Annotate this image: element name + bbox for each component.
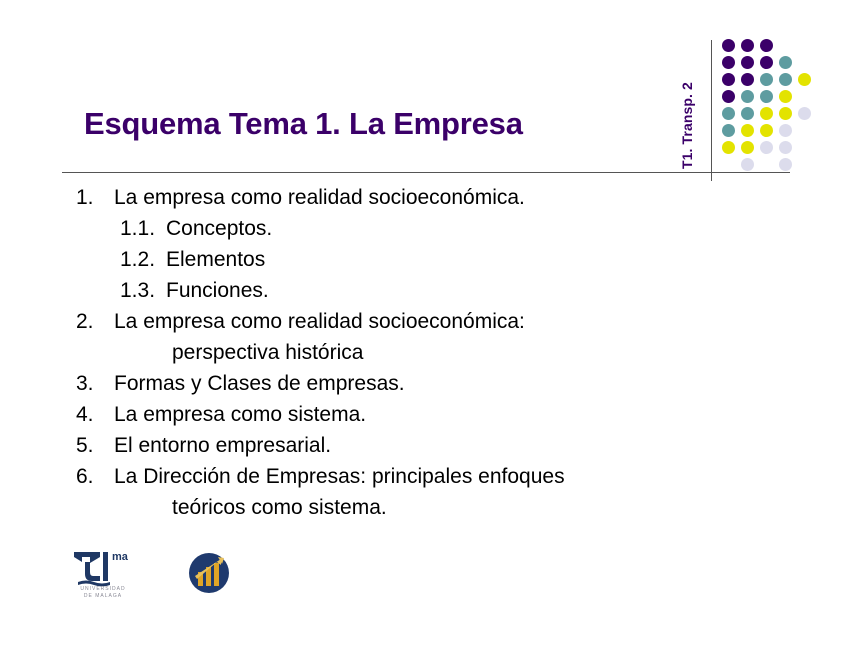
decorative-dot xyxy=(741,39,754,52)
transparency-label: T1. Transp. 2 xyxy=(679,49,697,169)
outline-item-marker: 3. xyxy=(76,368,114,399)
page-title: Esquema Tema 1. La Empresa xyxy=(84,106,523,142)
decorative-dot xyxy=(779,141,792,154)
decorative-dot xyxy=(798,73,811,86)
outline-item: 1.1.Conceptos. xyxy=(72,213,772,244)
outline-item: teóricos como sistema. xyxy=(72,492,772,523)
outline-item-text: Conceptos. xyxy=(166,213,272,244)
decorative-dot xyxy=(722,124,735,137)
decorative-dot xyxy=(760,73,773,86)
outline-item-marker: 6. xyxy=(76,461,114,492)
decorative-dot xyxy=(722,56,735,69)
footer-logos: ma UNIVERSIDAD DE MALAGA xyxy=(66,548,286,610)
decorative-dot xyxy=(779,124,792,137)
decorative-dot xyxy=(722,39,735,52)
outline-item-text: Funciones. xyxy=(166,275,269,306)
uma-mark-icon: ma xyxy=(70,548,136,588)
decorative-dot xyxy=(741,141,754,154)
decorative-dot xyxy=(741,158,754,171)
uma-caption-line1: UNIVERSIDAD xyxy=(70,586,136,593)
outline-item-marker: 4. xyxy=(76,399,114,430)
outline-item-text: perspectiva histórica xyxy=(172,337,363,368)
outline-item: 5.El entorno empresarial. xyxy=(72,430,772,461)
outline-item-marker: 5. xyxy=(76,430,114,461)
outline-item: 3.Formas y Clases de empresas. xyxy=(72,368,772,399)
uma-caption-line2: DE MALAGA xyxy=(70,593,136,600)
outline-item-text: teóricos como sistema. xyxy=(172,492,387,523)
outline-item-text: La empresa como realidad socioeconómica. xyxy=(114,182,525,213)
decorative-dot xyxy=(779,107,792,120)
decorative-dot xyxy=(760,90,773,103)
outline-item: 4.La empresa como sistema. xyxy=(72,399,772,430)
uma-wordmark: ma xyxy=(112,551,129,563)
outline-item-marker: 1.3. xyxy=(120,275,166,306)
outline-item-text: Formas y Clases de empresas. xyxy=(114,368,405,399)
outline-item-marker: 1.2. xyxy=(120,244,166,275)
emblem-icon xyxy=(188,552,230,594)
decorative-dot xyxy=(779,158,792,171)
decorative-dot xyxy=(760,124,773,137)
decorative-dot xyxy=(722,141,735,154)
decorative-dot xyxy=(760,39,773,52)
outline-item-text: El entorno empresarial. xyxy=(114,430,331,461)
decorative-dot xyxy=(741,73,754,86)
outline-item: 6.La Dirección de Empresas: principales … xyxy=(72,461,772,492)
decorative-dot xyxy=(741,90,754,103)
outline-item-text: Elementos xyxy=(166,244,265,275)
outline-item: 2.La empresa como realidad socioeconómic… xyxy=(72,306,772,337)
outline-list: 1.La empresa como realidad socioeconómic… xyxy=(72,182,772,523)
decorative-dot xyxy=(798,107,811,120)
decorative-dot xyxy=(760,56,773,69)
decorative-dot xyxy=(741,107,754,120)
universidad-de-malaga-logo: ma UNIVERSIDAD DE MALAGA xyxy=(70,548,136,608)
outline-item-text: La Dirección de Empresas: principales en… xyxy=(114,461,565,492)
decorative-dot xyxy=(760,107,773,120)
faculty-emblem-logo xyxy=(188,552,230,594)
outline-item: perspectiva histórica xyxy=(72,337,772,368)
outline-item: 1.3.Funciones. xyxy=(72,275,772,306)
slide-canvas: Esquema Tema 1. La Empresa T1. Transp. 2… xyxy=(0,0,848,655)
outline-item-text: La empresa como sistema. xyxy=(114,399,366,430)
outline-item-marker: 2. xyxy=(76,306,114,337)
decorative-dot xyxy=(722,90,735,103)
decorative-dot xyxy=(779,90,792,103)
decorative-dot xyxy=(741,124,754,137)
decorative-dot xyxy=(760,141,773,154)
header-vertical-divider xyxy=(711,40,712,181)
outline-item-marker: 1. xyxy=(76,182,114,213)
outline-item-marker: 1.1. xyxy=(120,213,166,244)
uma-caption: UNIVERSIDAD DE MALAGA xyxy=(70,586,136,600)
decorative-dot xyxy=(741,56,754,69)
decorative-dot xyxy=(779,56,792,69)
decorative-dot xyxy=(722,107,735,120)
dot-matrix-decoration xyxy=(722,39,812,174)
outline-item: 1.La empresa como realidad socioeconómic… xyxy=(72,182,772,213)
outline-item-text: La empresa como realidad socioeconómica: xyxy=(114,306,525,337)
header-divider xyxy=(62,172,790,173)
decorative-dot xyxy=(722,73,735,86)
decorative-dot xyxy=(779,73,792,86)
outline-item: 1.2.Elementos xyxy=(72,244,772,275)
